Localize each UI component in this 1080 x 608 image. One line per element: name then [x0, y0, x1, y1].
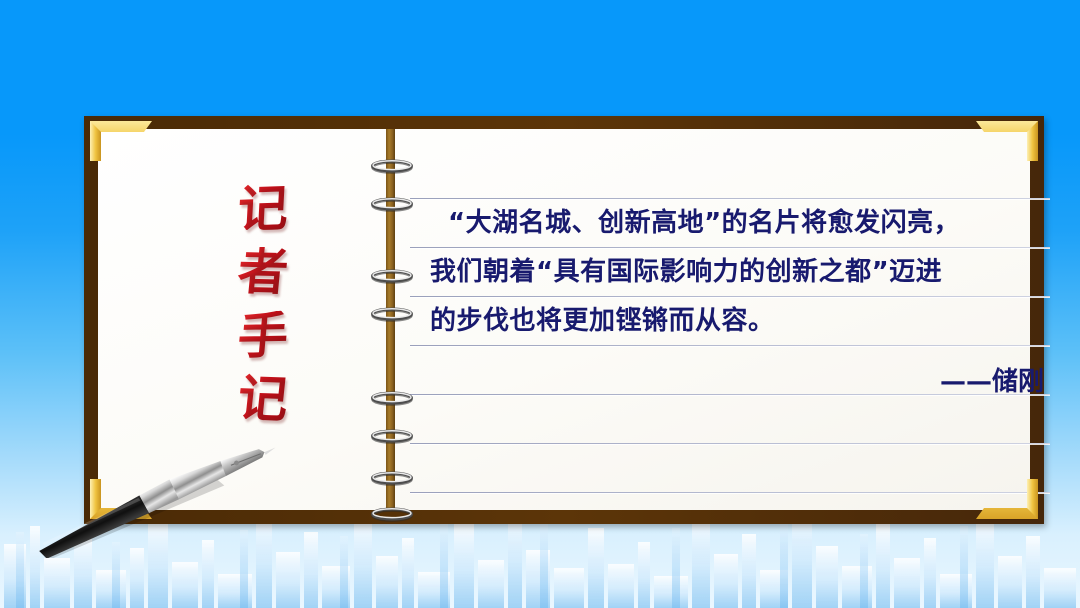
note-text-line: “大湖名城、创新高地”的名片将愈发闪亮， — [430, 199, 1050, 248]
signature-text: ——储刚 — [940, 367, 1044, 397]
rule-line — [410, 443, 1050, 444]
notebook-page: 记 者 手 记 “大湖名城、创新高地”的名片将愈发闪亮， 我们朝着“具有国际影响… — [98, 129, 1030, 510]
title-char: 记 — [235, 373, 290, 425]
rule-line — [410, 492, 1050, 493]
note-body: “大湖名城、创新高地”的名片将愈发闪亮， 我们朝着“具有国际影响力的创新之都”迈… — [430, 199, 1050, 407]
title-char: 者 — [236, 247, 291, 298]
binder-spine — [386, 129, 395, 510]
title-char: 手 — [236, 310, 290, 361]
page-title-vertical: 记 者 手 记 — [204, 184, 322, 424]
signature-row: ——储刚 — [430, 358, 1050, 407]
slide-canvas: 记 者 手 记 “大湖名城、创新高地”的名片将愈发闪亮， 我们朝着“具有国际影响… — [0, 0, 1080, 608]
notebook-panel: 记 者 手 记 “大湖名城、创新高地”的名片将愈发闪亮， 我们朝着“具有国际影响… — [84, 116, 1044, 524]
title-char: 记 — [237, 183, 290, 235]
note-text-line: 的步伐也将更加铿锵而从容。 — [430, 297, 1050, 346]
note-text-line: 我们朝着“具有国际影响力的创新之都”迈进 — [430, 248, 1050, 297]
